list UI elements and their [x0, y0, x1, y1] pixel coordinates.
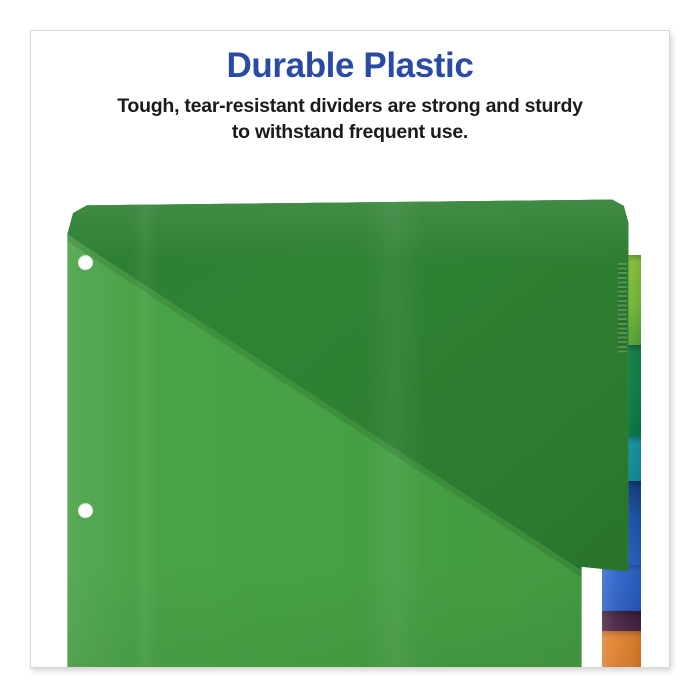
product-card-frame: Durable Plastic Tough, tear-resistant di…	[30, 30, 670, 668]
binder-hole-top	[78, 255, 93, 270]
page-subtitle-line-2: to withstand frequent use.	[232, 121, 468, 143]
reinforcement-rib-strip	[618, 263, 627, 353]
page-title: Durable Plastic	[31, 47, 669, 85]
index-tab-purple	[602, 611, 641, 631]
page-subtitle: Tough, tear-resistant dividers are stron…	[66, 94, 634, 145]
binder-hole-bottom	[78, 503, 93, 518]
index-tab-blue	[602, 565, 641, 611]
headline-block: Durable Plastic Tough, tear-resistant di…	[31, 47, 669, 145]
plastic-divider-sheet	[64, 191, 634, 668]
tab-shadow	[602, 611, 641, 618]
page-subtitle-line-1: Tough, tear-resistant dividers are stron…	[117, 95, 583, 117]
product-photo: Durable Plastic Tough, tear-resistant di…	[0, 0, 700, 700]
tab-shadow	[602, 631, 641, 638]
index-tab-orange	[602, 631, 641, 668]
